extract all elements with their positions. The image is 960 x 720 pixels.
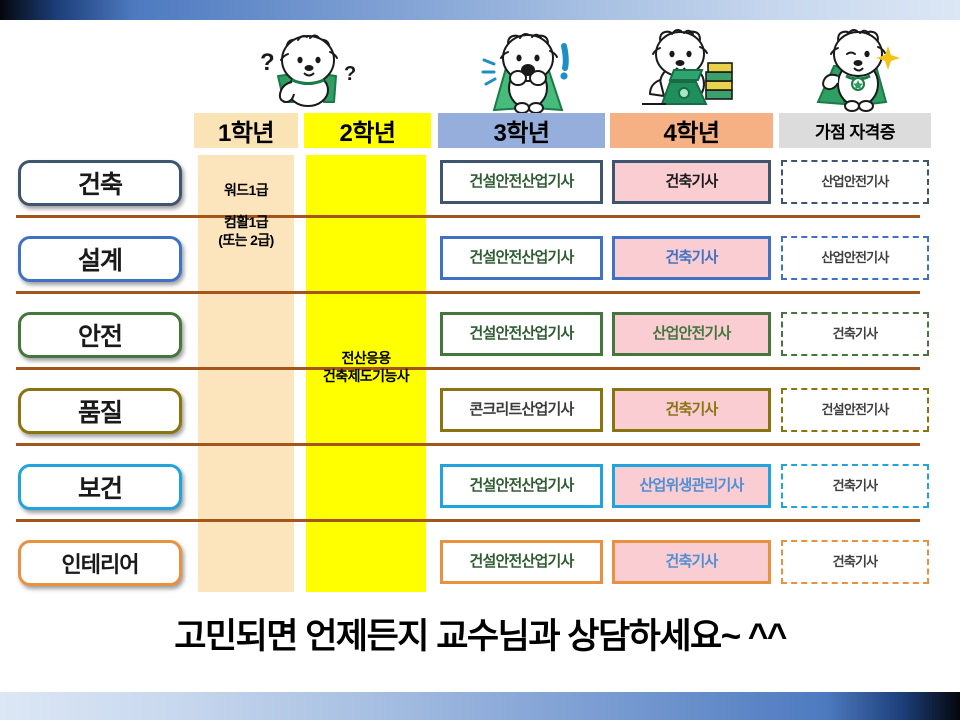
- track-label-geonchuk[interactable]: 건축: [18, 160, 182, 206]
- year1-cert-comp-line1: 컴활1급: [198, 214, 294, 232]
- studying-tiger-icon: [632, 18, 752, 114]
- cert-year3-seolgye[interactable]: 건설안전산업기사: [440, 236, 603, 280]
- cert-bonus-pumjil[interactable]: 건설안전기사: [781, 388, 929, 432]
- column-header-year4-label: 4학년: [610, 113, 773, 148]
- column-header-year2: 2학년: [304, 113, 431, 148]
- column-header-year3: 3학년: [438, 113, 605, 148]
- cert-year3-geonchuk[interactable]: 건설안전산업기사: [440, 160, 603, 204]
- svg-text:?: ?: [260, 49, 275, 76]
- column-header-year4: 4학년: [610, 113, 773, 148]
- bottom-gradient-bar: [0, 692, 960, 720]
- cert-year4-interior[interactable]: 건축기사: [612, 540, 771, 584]
- column-header-bonus: 가점 자격증: [779, 113, 931, 148]
- track-row-interior: 인테리어 건설안전산업기사 건축기사 건축기사: [0, 540, 960, 596]
- track-row-pumjil: 품질 콘크리트산업기사 건축기사 건설안전기사: [0, 388, 960, 444]
- track-label-pumjil[interactable]: 품질: [18, 388, 182, 434]
- cheering-tiger-icon: [468, 18, 588, 114]
- cert-bonus-geonchuk[interactable]: 산업안전기사: [781, 160, 929, 204]
- mascot-strip: ? ?: [0, 18, 960, 114]
- cert-year4-anjeon[interactable]: 산업안전기사: [612, 312, 771, 356]
- cert-year4-pumjil[interactable]: 건축기사: [612, 388, 771, 432]
- cert-year4-seolgye[interactable]: 건축기사: [612, 236, 771, 280]
- column-header-year1-label: 1학년: [194, 113, 298, 148]
- track-row-anjeon: 안전 건설안전산업기사 산업안전기사 건축기사: [0, 312, 960, 368]
- track-label-bogeon[interactable]: 보건: [18, 464, 182, 510]
- column-header-year3-label: 3학년: [438, 113, 605, 148]
- footer-caption: 고민되면 언제든지 교수님과 상담하세요~ ^^: [0, 608, 960, 659]
- cert-year4-geonchuk[interactable]: 건축기사: [612, 160, 771, 204]
- cert-year4-bogeon[interactable]: 산업위생관리기사: [612, 464, 771, 508]
- column-header-bonus-label: 가점 자격증: [779, 113, 931, 148]
- cert-year3-anjeon[interactable]: 건설안전산업기사: [440, 312, 603, 356]
- track-row-seolgye: 설계 건설안전산업기사 건축기사 산업안전기사: [0, 236, 960, 292]
- cert-bonus-anjeon[interactable]: 건축기사: [781, 312, 929, 356]
- thinking-tiger-icon: ? ?: [248, 18, 368, 114]
- column-header-year2-label: 2학년: [304, 113, 431, 148]
- award-tiger-icon: [800, 18, 920, 114]
- track-row-geonchuk: 건축 건설안전산업기사 건축기사 산업안전기사: [0, 160, 960, 216]
- cert-year3-interior[interactable]: 건설안전산업기사: [440, 540, 603, 584]
- cert-bonus-interior[interactable]: 건축기사: [781, 540, 929, 584]
- top-gradient-bar: [0, 0, 960, 20]
- cert-bonus-bogeon[interactable]: 건축기사: [781, 464, 929, 508]
- column-header-year1: 1학년: [194, 113, 298, 148]
- track-label-seolgye[interactable]: 설계: [18, 236, 182, 282]
- svg-text:?: ?: [344, 63, 356, 85]
- slide-root: ? ?: [0, 0, 960, 720]
- cert-bonus-seolgye[interactable]: 산업안전기사: [781, 236, 929, 280]
- track-label-anjeon[interactable]: 안전: [18, 312, 182, 358]
- cert-year3-bogeon[interactable]: 건설안전산업기사: [440, 464, 603, 508]
- year2-cert-line2: 건축제도기능사: [306, 368, 426, 386]
- track-label-interior[interactable]: 인테리어: [18, 540, 182, 586]
- track-row-bogeon: 보건 건설안전산업기사 산업위생관리기사 건축기사: [0, 464, 960, 520]
- cert-year3-pumjil[interactable]: 콘크리트산업기사: [440, 388, 603, 432]
